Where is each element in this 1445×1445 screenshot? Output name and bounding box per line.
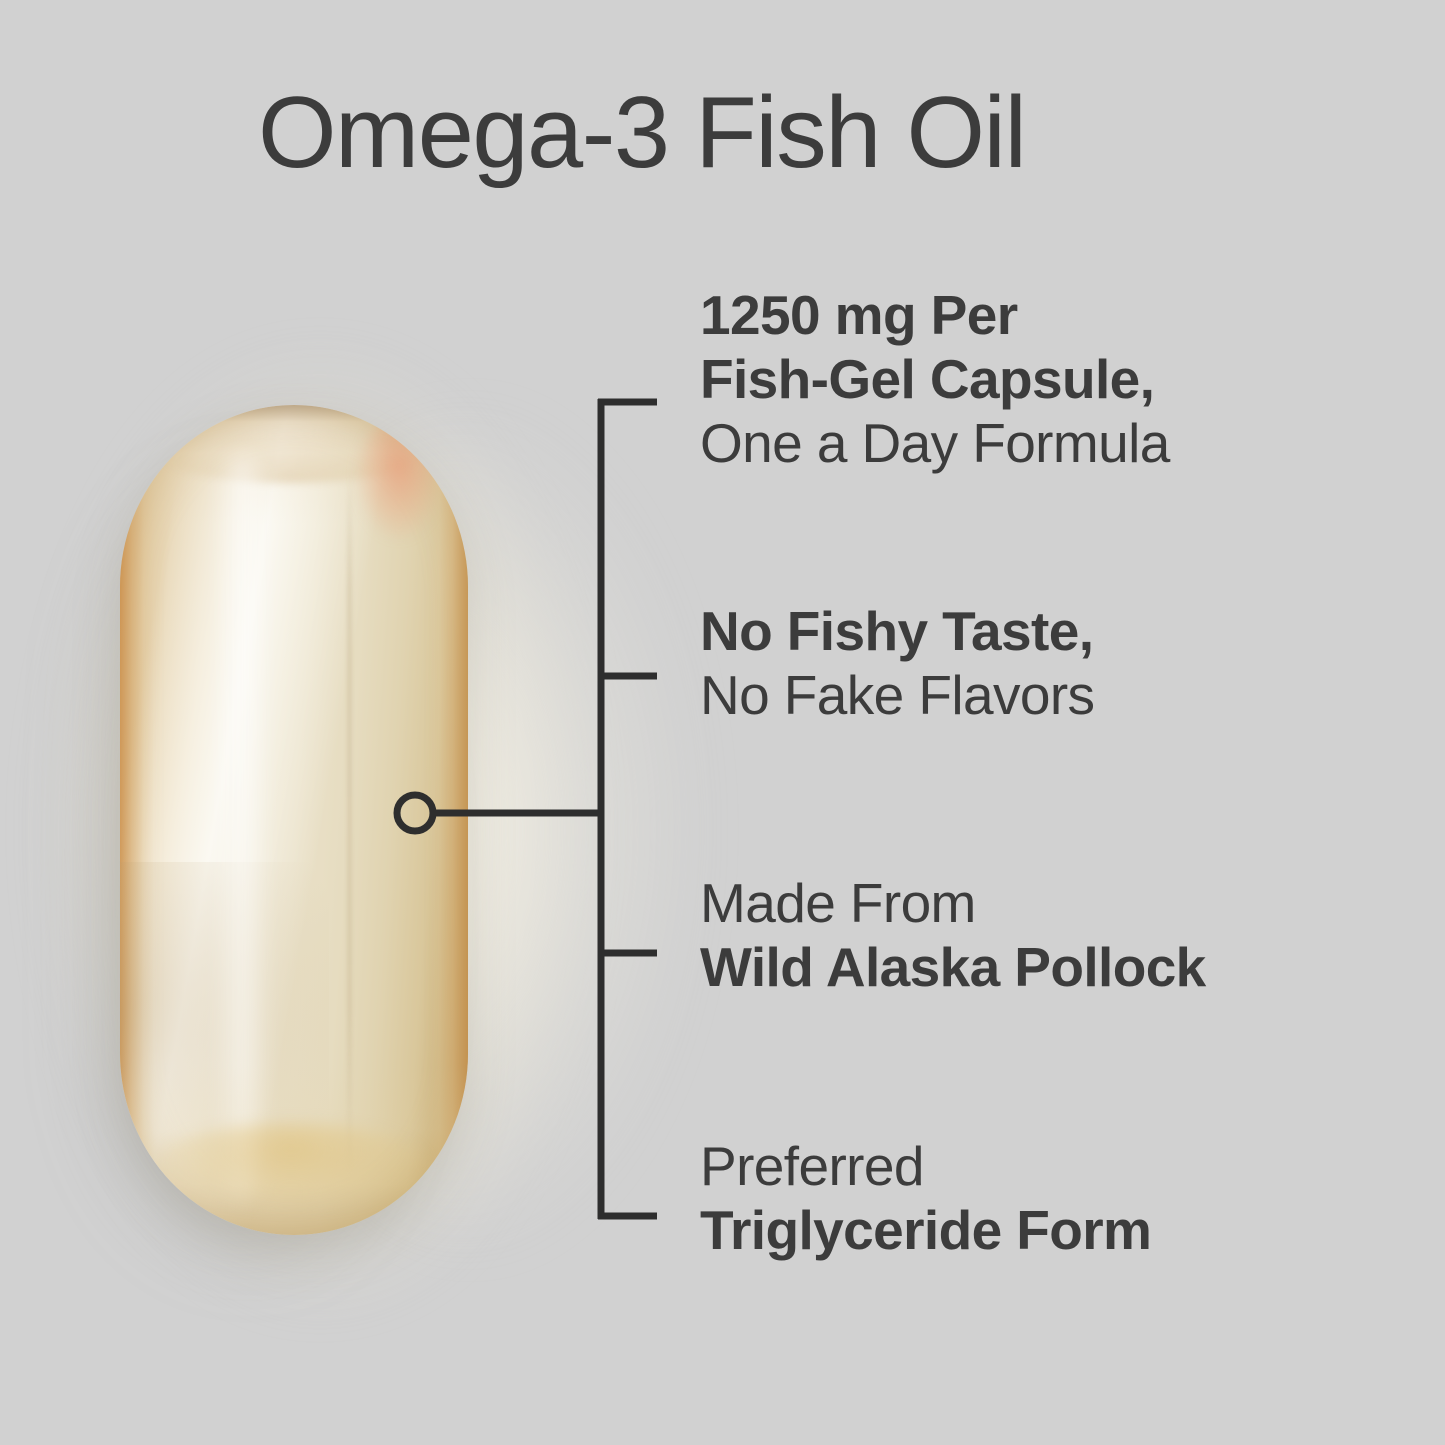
callout-taste-line-2: No Fake Flavors [700,664,1094,728]
product-image-area [40,340,620,1320]
callout-source-line-1: Made From [700,872,1206,936]
callout-form: Preferred Triglyceride Form [700,1135,1151,1263]
capsule-oil-pool [154,1123,428,1209]
page-title: Omega-3 Fish Oil [258,78,1025,189]
product-infographic: Omega-3 Fish Oil 1 [0,0,1445,1445]
callout-dose-line-3: One a Day Formula [700,412,1170,476]
callout-source: Made From Wild Alaska Pollock [700,872,1206,1000]
callout-source-line-2: Wild Alaska Pollock [700,936,1206,1000]
callout-form-line-1: Preferred [700,1135,1151,1199]
callout-taste-line-1: No Fishy Taste, [700,600,1094,664]
callout-dose: 1250 mg Per Fish-Gel Capsule, One a Day … [700,284,1170,475]
callout-form-line-2: Triglyceride Form [700,1199,1151,1263]
callout-dose-line-2: Fish-Gel Capsule, [700,348,1170,412]
callout-taste: No Fishy Taste, No Fake Flavors [700,600,1094,728]
callout-dose-line-1: 1250 mg Per [700,284,1170,348]
softgel-capsule [120,405,468,1235]
